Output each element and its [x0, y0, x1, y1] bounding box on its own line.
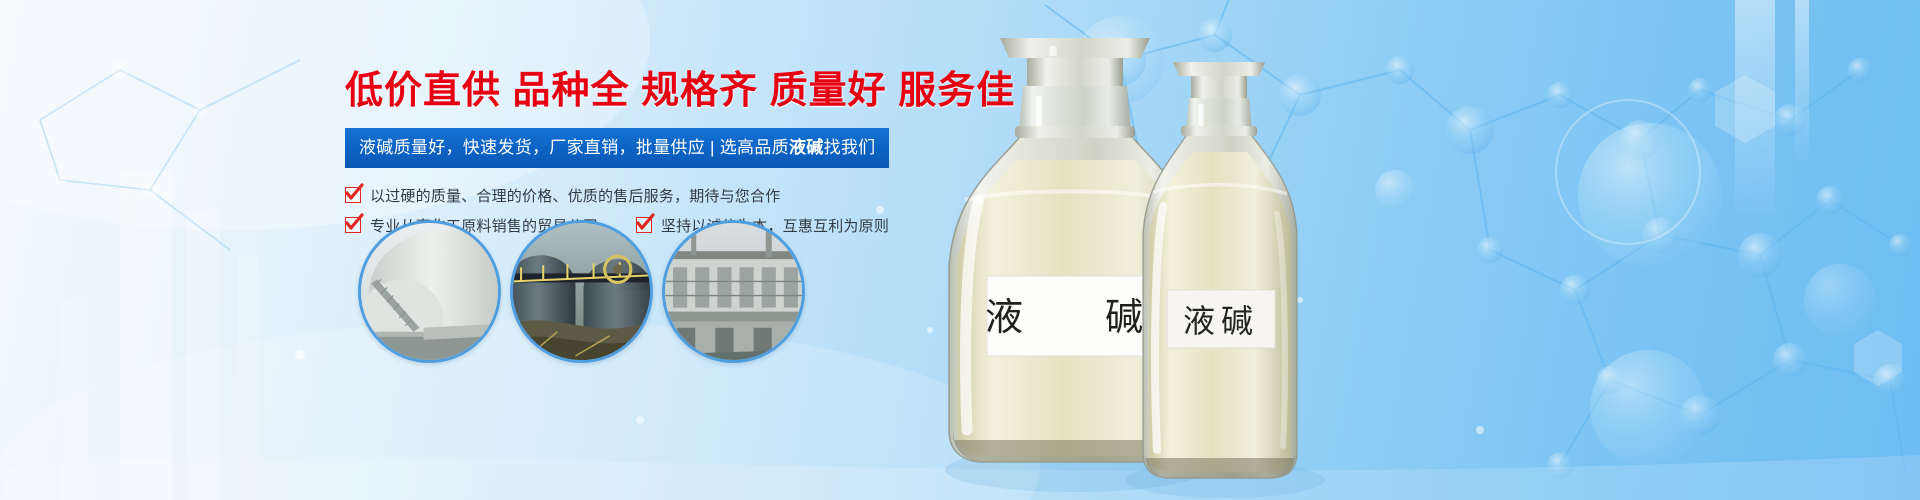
- storage-tank-photo-art: [361, 223, 498, 360]
- tagline-prefix: 液碱质量好，快速发货，厂家直销，批量供应 | 选高品质: [359, 138, 789, 157]
- promo-banner: 低价直供 品种全 规格齐 质量好 服务佳 液碱质量好，快速发货，厂家直销，批量供…: [0, 0, 1920, 500]
- photo-gallery: [358, 220, 805, 363]
- large-bottle-label: 液 碱: [985, 297, 1165, 339]
- small-bottle-label: 液碱: [1183, 303, 1259, 339]
- tagline-bar: 液碱质量好，快速发货，厂家直销，批量供应 | 选高品质液碱找我们: [345, 128, 889, 168]
- factory-building-photo: [662, 220, 805, 363]
- selling-points-row: 以过硬的质量、合理的价格、优质的售后服务，期待与您合作: [345, 185, 965, 206]
- dark-tank-photo: [510, 220, 653, 363]
- list-item: 以过硬的质量、合理的价格、优质的售后服务，期待与您合作: [345, 185, 780, 206]
- tagline-emphasis: 液碱: [789, 138, 824, 157]
- dark-tank-photo-art: [513, 223, 650, 360]
- red-check-box-icon: [345, 187, 361, 203]
- banner-content: 低价直供 品种全 规格齐 质量好 服务佳 液碱质量好，快速发货，厂家直销，批量供…: [345, 70, 965, 245]
- tagline-suffix: 找我们: [824, 138, 876, 157]
- product-bottles: 液 碱 液碱: [905, 0, 1425, 500]
- small-reagent-bottle: 液碱: [1143, 62, 1297, 478]
- factory-building-photo-art: [665, 223, 802, 360]
- page-title: 低价直供 品种全 规格齐 质量好 服务佳: [345, 70, 965, 114]
- storage-tank-photo: [358, 220, 501, 363]
- list-item-label: 以过硬的质量、合理的价格、优质的售后服务，期待与您合作: [370, 185, 780, 206]
- bottles-art: 液 碱 液碱: [905, 0, 1425, 500]
